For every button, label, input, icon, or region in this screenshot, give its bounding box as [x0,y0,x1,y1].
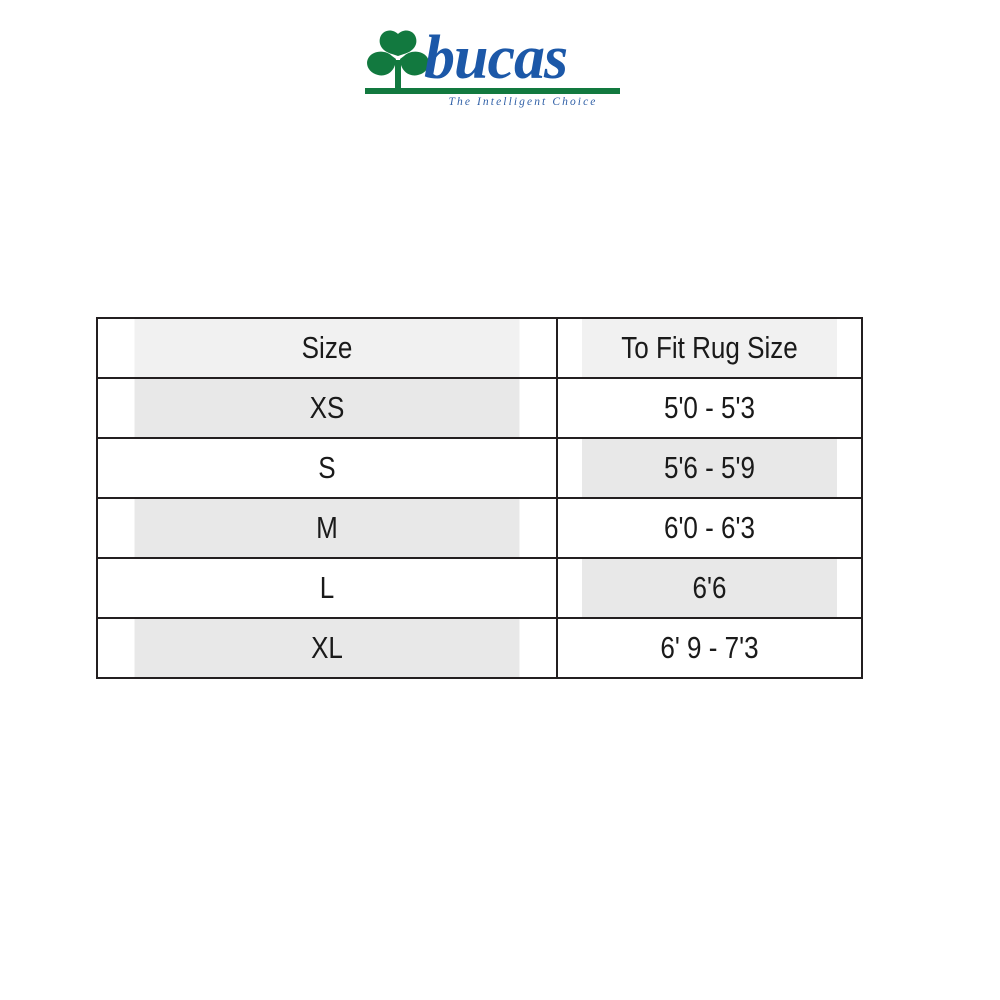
cell-size: L [134,558,520,618]
logo-tagline: The Intelligent Choice [424,96,622,108]
table-row: M 6'0 - 6'3 [97,498,862,558]
table-header-row: Size To Fit Rug Size [97,318,862,378]
logo-lockup: bucas The Intelligent Choice [362,26,622,126]
table-row: XL 6' 9 - 7'3 [97,618,862,678]
size-chart: Size To Fit Rug Size XS 5'0 - 5'3 S 5'6 … [96,317,861,668]
green-underline-rule [365,88,620,94]
table-row: S 5'6 - 5'9 [97,438,862,498]
cell-size: XL [134,618,520,678]
wordmark-bucas: bucas [424,26,567,90]
size-table-body: XS 5'0 - 5'3 S 5'6 - 5'9 M 6'0 - 6'3 L 6… [97,378,862,678]
size-table: Size To Fit Rug Size XS 5'0 - 5'3 S 5'6 … [96,317,863,679]
table-row: L 6'6 [97,558,862,618]
cell-fit: 5'0 - 5'3 [581,378,837,438]
size-table-head: Size To Fit Rug Size [97,318,862,378]
cell-fit: 6'6 [581,558,837,618]
cell-size: XS [134,378,520,438]
cell-size: M [134,498,520,558]
column-header-size: Size [134,318,520,378]
table-row: XS 5'0 - 5'3 [97,378,862,438]
cell-size: S [134,438,520,498]
cell-fit: 6' 9 - 7'3 [581,618,837,678]
column-header-to-fit-rug-size: To Fit Rug Size [581,318,837,378]
cell-fit: 6'0 - 6'3 [581,498,837,558]
brand-logo: bucas The Intelligent Choice [0,0,1000,140]
cell-fit: 5'6 - 5'9 [581,438,837,498]
